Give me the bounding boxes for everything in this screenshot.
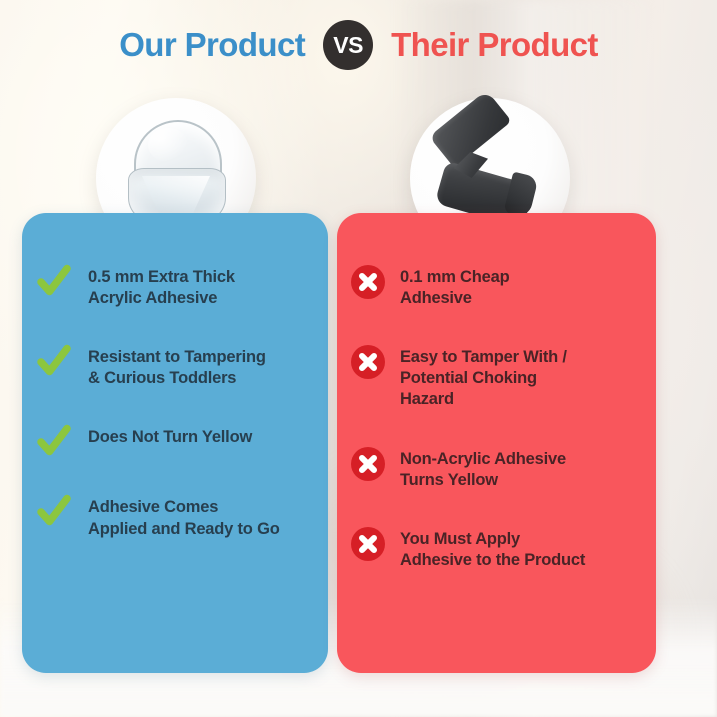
list-item: Does Not Turn Yellow: [36, 425, 314, 459]
cross-icon: [351, 345, 385, 379]
ours-title: Our Product: [119, 26, 305, 64]
list-item: Easy to Tamper With / Potential Choking …: [351, 345, 642, 410]
header: Our Product VS Their Product: [0, 14, 717, 76]
list-item-label: Does Not Turn Yellow: [88, 425, 252, 448]
vs-badge: VS: [323, 20, 373, 70]
theirs-title: Their Product: [391, 26, 598, 64]
list-item-label: You Must Apply Adhesive to the Product: [400, 527, 585, 571]
list-item: 0.5 mm Extra Thick Acrylic Adhesive: [36, 265, 314, 309]
theirs-feature-panel: 0.1 mm Cheap Adhesive Easy to Tamper Wit…: [337, 213, 656, 673]
list-item: 0.1 mm Cheap Adhesive: [351, 265, 642, 309]
list-item: Adhesive Comes Applied and Ready to Go: [36, 495, 314, 539]
list-item-label: 0.1 mm Cheap Adhesive: [400, 265, 509, 309]
theirs-feature-list: 0.1 mm Cheap Adhesive Easy to Tamper Wit…: [351, 265, 642, 571]
ours-feature-panel: 0.5 mm Extra Thick Acrylic Adhesive Resi…: [22, 213, 328, 673]
cross-icon: [351, 265, 385, 299]
cross-icon: [351, 447, 385, 481]
check-icon: [36, 343, 72, 379]
list-item-label: Non-Acrylic Adhesive Turns Yellow: [400, 447, 566, 491]
cross-icon: [351, 527, 385, 561]
comparison-infographic: Our Product VS Their Product: [0, 0, 717, 717]
clear-acrylic-corner-guard-icon: [126, 120, 226, 228]
list-item-label: Resistant to Tampering & Curious Toddler…: [88, 345, 266, 389]
check-icon: [36, 493, 72, 529]
ours-feature-list: 0.5 mm Extra Thick Acrylic Adhesive Resi…: [36, 265, 314, 540]
list-item: You Must Apply Adhesive to the Product: [351, 527, 642, 571]
list-item: Resistant to Tampering & Curious Toddler…: [36, 345, 314, 389]
check-icon: [36, 263, 72, 299]
list-item-label: Adhesive Comes Applied and Ready to Go: [88, 495, 280, 539]
list-item-label: 0.5 mm Extra Thick Acrylic Adhesive: [88, 265, 235, 309]
check-icon: [36, 423, 72, 459]
list-item-label: Easy to Tamper With / Potential Choking …: [400, 345, 567, 410]
list-item: Non-Acrylic Adhesive Turns Yellow: [351, 447, 642, 491]
vs-badge-label: VS: [333, 32, 363, 59]
guard-gloss: [148, 128, 188, 162]
